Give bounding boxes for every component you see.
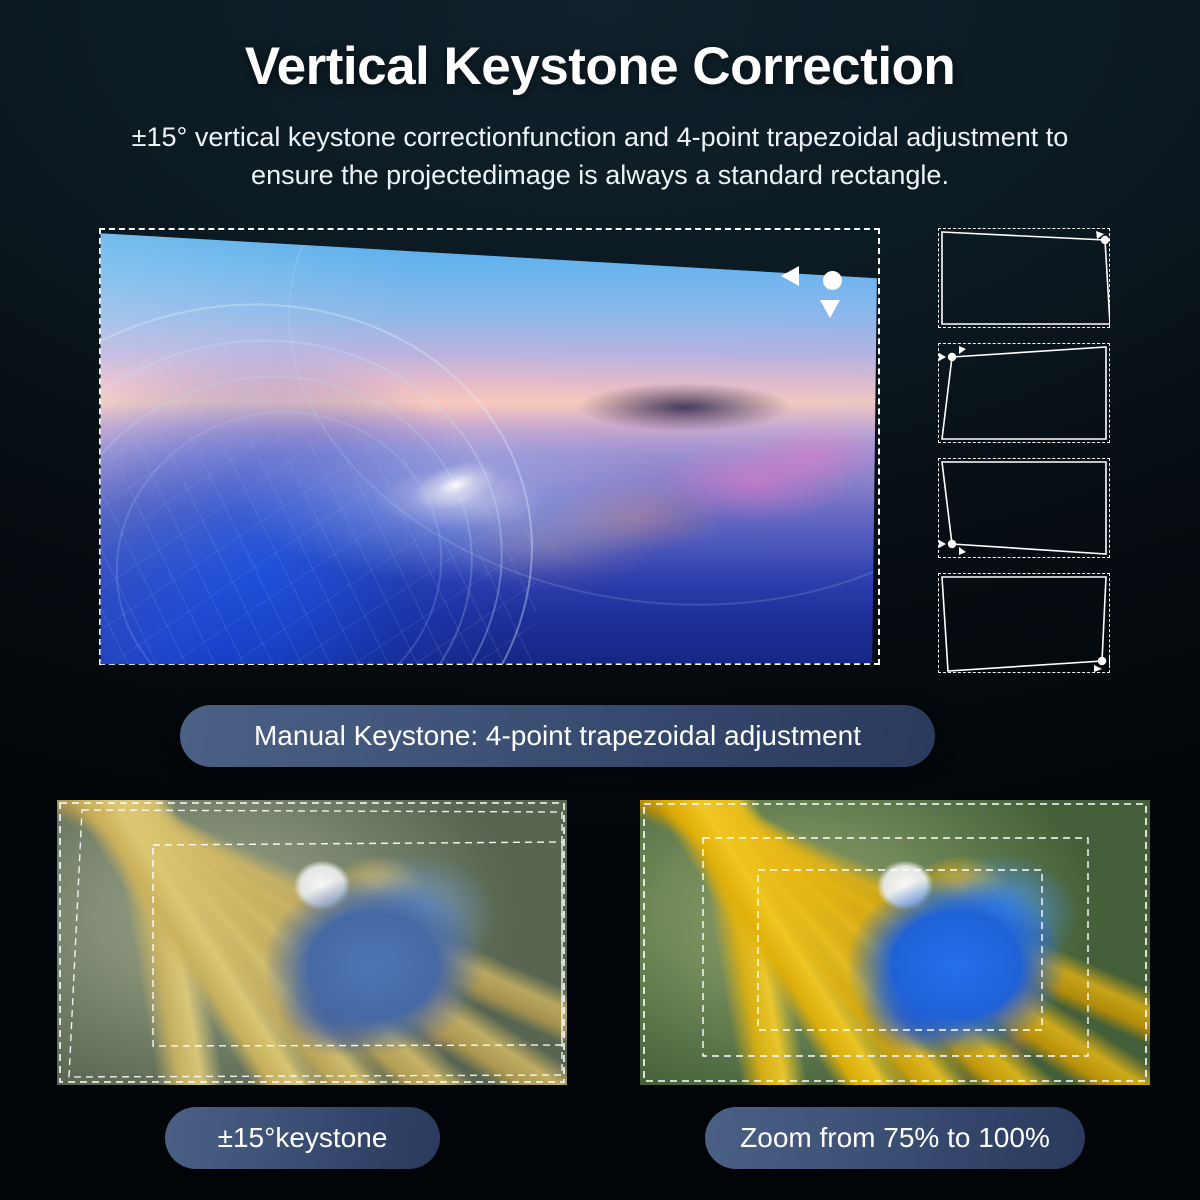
page-title: Vertical Keystone Correction [0, 36, 1200, 97]
hero-arc-icon [99, 372, 478, 665]
thumbnail-bottom-right-corner-adjust[interactable] [938, 573, 1110, 673]
thumb-shape-bottom-right [938, 573, 1110, 673]
hero-arc-icon [254, 228, 880, 653]
corner-handle-arrow-down-icon[interactable] [820, 300, 840, 318]
hero-cityscape-image [99, 228, 880, 665]
thumbnail-top-right-corner-adjust[interactable] [938, 228, 1110, 328]
hero-projection-area [99, 228, 880, 665]
keystone-thumbnail-list [938, 228, 1110, 688]
hero-grid-glow [99, 438, 536, 665]
thumbnail-top-left-corner-adjust[interactable] [938, 343, 1110, 443]
page-subtitle: ±15° vertical keystone correctionfunctio… [100, 118, 1100, 195]
caption-pill-manual-keystone[interactable]: Manual Keystone: 4-point trapezoidal adj… [180, 705, 935, 767]
thumb-shape-top-right [938, 228, 1110, 328]
hero-haze-overlay [99, 228, 880, 665]
hero-arc-icon [99, 326, 519, 665]
hero-arc-icon [99, 279, 558, 665]
keystone-overlay-shapes [57, 800, 567, 1085]
keystone-parrot-panel [57, 800, 567, 1085]
corner-handle-arrow-left-icon[interactable] [781, 266, 799, 286]
thumbnail-bottom-left-corner-adjust[interactable] [938, 458, 1110, 558]
zoom-overlay-shapes [640, 800, 1150, 1085]
page-root: Vertical Keystone Correction ±15° vertic… [0, 0, 1200, 1200]
thumb-shape-bottom-left [938, 458, 1110, 558]
zoom-parrot-panel [640, 800, 1150, 1085]
hero-light-spark [407, 451, 506, 519]
caption-pill-zoom[interactable]: Zoom from 75% to 100% [705, 1107, 1085, 1169]
caption-pill-keystone[interactable]: ±15°keystone [165, 1107, 440, 1169]
hero-arc-icon [99, 233, 597, 665]
corner-handle-dot[interactable] [823, 271, 842, 290]
thumb-shape-top-left [938, 343, 1110, 443]
